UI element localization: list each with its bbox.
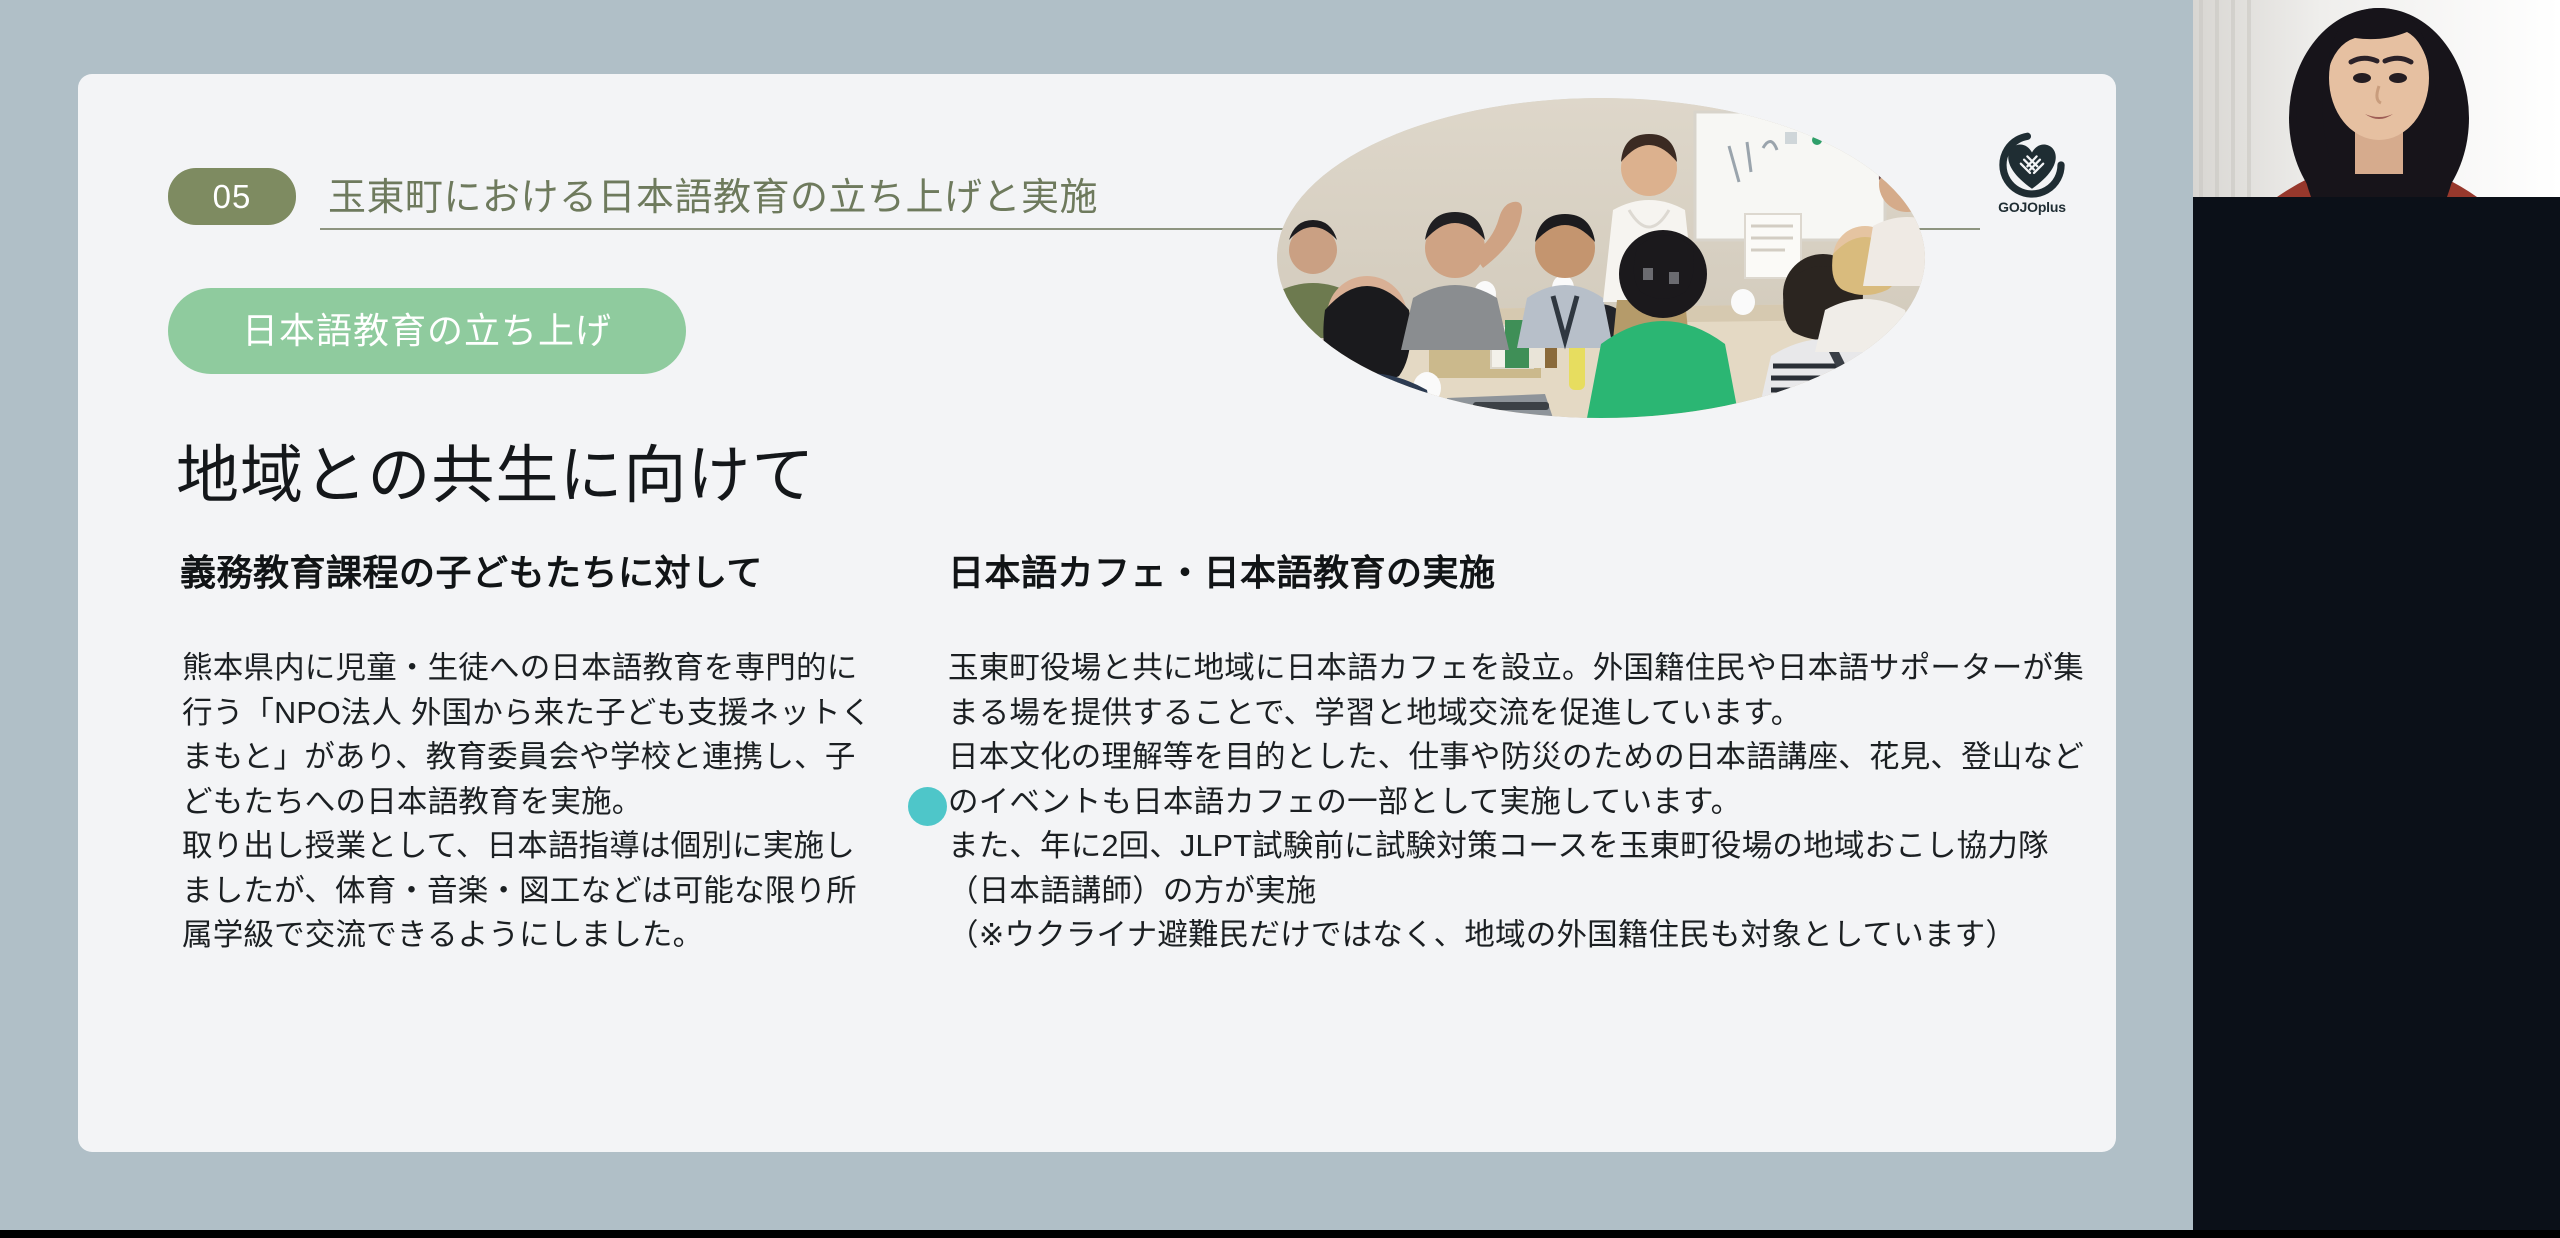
left-column-paragraph: 取り出し授業として、日本語指導は個別に実施しましたが、体育・音楽・図工などは可能… bbox=[182, 824, 882, 958]
slide-main-heading: 地域との共生に向けて bbox=[176, 425, 815, 516]
classroom-photo-illustration bbox=[1277, 98, 1925, 418]
heart-hands-circle-icon bbox=[1999, 132, 2065, 198]
right-column-body: 玉東町役場と共に地域に日本語カフェを設立。外国籍住民や日本語サポーターが集まる場… bbox=[948, 646, 2088, 958]
section-title: 玉東町における日本語教育の立ち上げと実施 bbox=[328, 166, 1098, 221]
screen-root: 05 玉東町における日本語教育の立ち上げと実施 GOJOplus bbox=[0, 0, 2560, 1238]
presenter-webcam-image bbox=[2193, 0, 2560, 197]
presentation-stage[interactable]: 05 玉東町における日本語教育の立ち上げと実施 GOJOplus bbox=[0, 0, 2193, 1238]
participants-rail[interactable] bbox=[2193, 0, 2560, 1238]
topic-pill: 日本語教育の立ち上げ bbox=[168, 288, 686, 374]
brand-logo: GOJOplus bbox=[1988, 132, 2076, 224]
presenter-video-tile[interactable] bbox=[2193, 0, 2560, 197]
right-column-heading: 日本語カフェ・日本語教育の実施 bbox=[948, 544, 1496, 596]
right-column-paragraph: また、年に2回、JLPT試験前に試験対策コースを玉東町役場の地域おこし協力隊（日… bbox=[948, 824, 2088, 913]
pointer-dot-icon bbox=[908, 787, 947, 826]
right-column-paragraph: （※ウクライナ避難民だけではなく、地域の外国籍住民も対象としています） bbox=[948, 913, 2088, 958]
brand-wordmark: GOJOplus bbox=[1988, 199, 2076, 215]
hero-photo bbox=[1277, 98, 1925, 418]
left-column-heading: 義務教育課程の子どもたちに対して bbox=[180, 544, 763, 596]
right-column-paragraph: 玉東町役場と共に地域に日本語カフェを設立。外国籍住民や日本語サポーターが集まる場… bbox=[948, 646, 2088, 735]
right-column-paragraph: 日本文化の理解等を目的とした、仕事や防災のための日本語講座、花見、登山などのイベ… bbox=[948, 735, 2088, 824]
left-column-body: 熊本県内に児童・生徒への日本語教育を専門的に行う「NPO法人 外国から来た子ども… bbox=[182, 646, 882, 958]
bottom-letterbox bbox=[0, 1230, 2560, 1238]
left-column-paragraph: 熊本県内に児童・生徒への日本語教育を専門的に行う「NPO法人 外国から来た子ども… bbox=[182, 646, 882, 824]
section-number-badge: 05 bbox=[168, 168, 296, 225]
